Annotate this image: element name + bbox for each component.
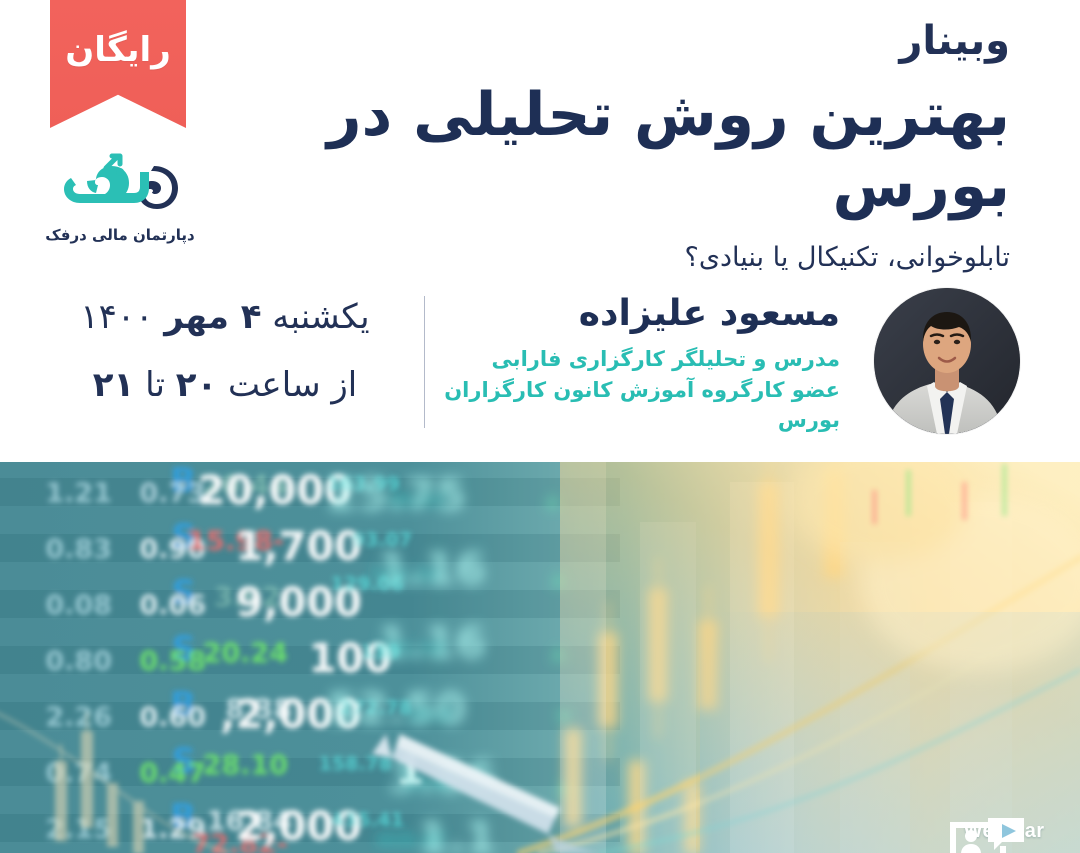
kicker-label: وبینار [250,18,1010,64]
event-time-to: ۲۱ [93,365,135,405]
event-year: ۱۴۰۰ [80,297,153,337]
free-ribbon-badge: رایگان [50,0,186,128]
speaker-role-line-1: مدرس و تحلیلگر کارگزاری فارابی [420,344,840,374]
webinar-poster: رایگان دپارتمان مالی درفک وبینار بهترین … [0,0,1080,853]
event-day-month: ۴ مهر [164,297,261,337]
svg-text:415.47: 415.47 [377,830,446,851]
svg-text:1.21: 1.21 [45,478,112,509]
event-datetime: یکشنبه ۴ مهر ۱۴۰۰ از ساعت ۲۰ تا ۲۱ [60,288,390,402]
page-subtitle: تابلوخوانی، تکنیکال یا بنیادی؟ [250,240,1010,275]
speaker-portrait-icon [874,288,1020,434]
svg-text:2.26: 2.26 [45,702,112,733]
svg-text:0.06: 0.06 [139,590,206,621]
svg-text:93.22: 93.22 [389,490,446,511]
page-title: بهترین روش تحلیلی در بورس [250,80,1010,222]
webinar-presentation-icon [944,814,1028,853]
svg-text:435.41: 435.41 [331,809,404,831]
event-time: از ساعت ۲۰ تا ۲۱ [60,368,390,402]
svg-text:0.80: 0.80 [45,646,112,677]
svg-text:158.78: 158.78 [319,753,392,775]
event-time-prefix: از ساعت [228,365,357,405]
svg-text:131.12: 131.12 [371,564,440,585]
free-ribbon-label: رایگان [65,33,171,67]
stock-market-background: 6.65 1.46 9.37 8.70 1.00 9.97 1.21 1.21 … [0,462,1080,853]
svg-text:141.13: 141.13 [375,638,444,659]
speaker-info: مسعود علیزاده مدرس و تحلیلگر کارگزاری فا… [420,288,840,436]
svg-text:0.83: 0.83 [45,534,112,565]
svg-text:1,700: 1,700 [235,524,362,570]
event-date: یکشنبه ۴ مهر ۱۴۰۰ [60,300,390,334]
svg-text:28.10: 28.10 [203,750,288,781]
svg-text:0.58: 0.58 [139,646,206,677]
brand-logo: دپارتمان مالی درفک [36,150,204,244]
event-day-name: یکشنبه [272,297,369,337]
derafk-logo-icon [36,150,204,222]
speaker-name: مسعود علیزاده [420,294,840,334]
svg-text:31.2: 31.2 [408,704,452,725]
avatar [874,288,1020,434]
svg-text:▲: ▲ [545,487,561,511]
svg-text:0.08: 0.08 [45,590,112,621]
ticker-board-illustration: 6.65 1.46 9.37 8.70 1.00 9.97 1.21 1.21 … [0,462,1080,853]
event-time-from: ۲۰ [176,365,218,405]
speaker-role-line-2: عضو کارگروه آموزش کانون کارگزاران بورس [420,375,840,436]
event-time-separator: تا [145,365,165,405]
webinar-badge: Webinar [944,814,1064,843]
svg-text:0.47: 0.47 [139,758,206,789]
logo-tagline: دپارتمان مالی درفک [36,226,204,244]
poster-header: رایگان دپارتمان مالی درفک وبینار بهترین … [0,0,1080,462]
title-block: وبینار بهترین روش تحلیلی در بورس تابلوخو… [250,18,1010,275]
svg-text:0.73: 0.73 [139,478,206,509]
svg-text:0.60: 0.60 [139,702,206,733]
info-strip: یکشنبه ۴ مهر ۱۴۰۰ از ساعت ۲۰ تا ۲۱ مسعود… [0,282,1080,442]
svg-text:20.24: 20.24 [203,638,288,669]
